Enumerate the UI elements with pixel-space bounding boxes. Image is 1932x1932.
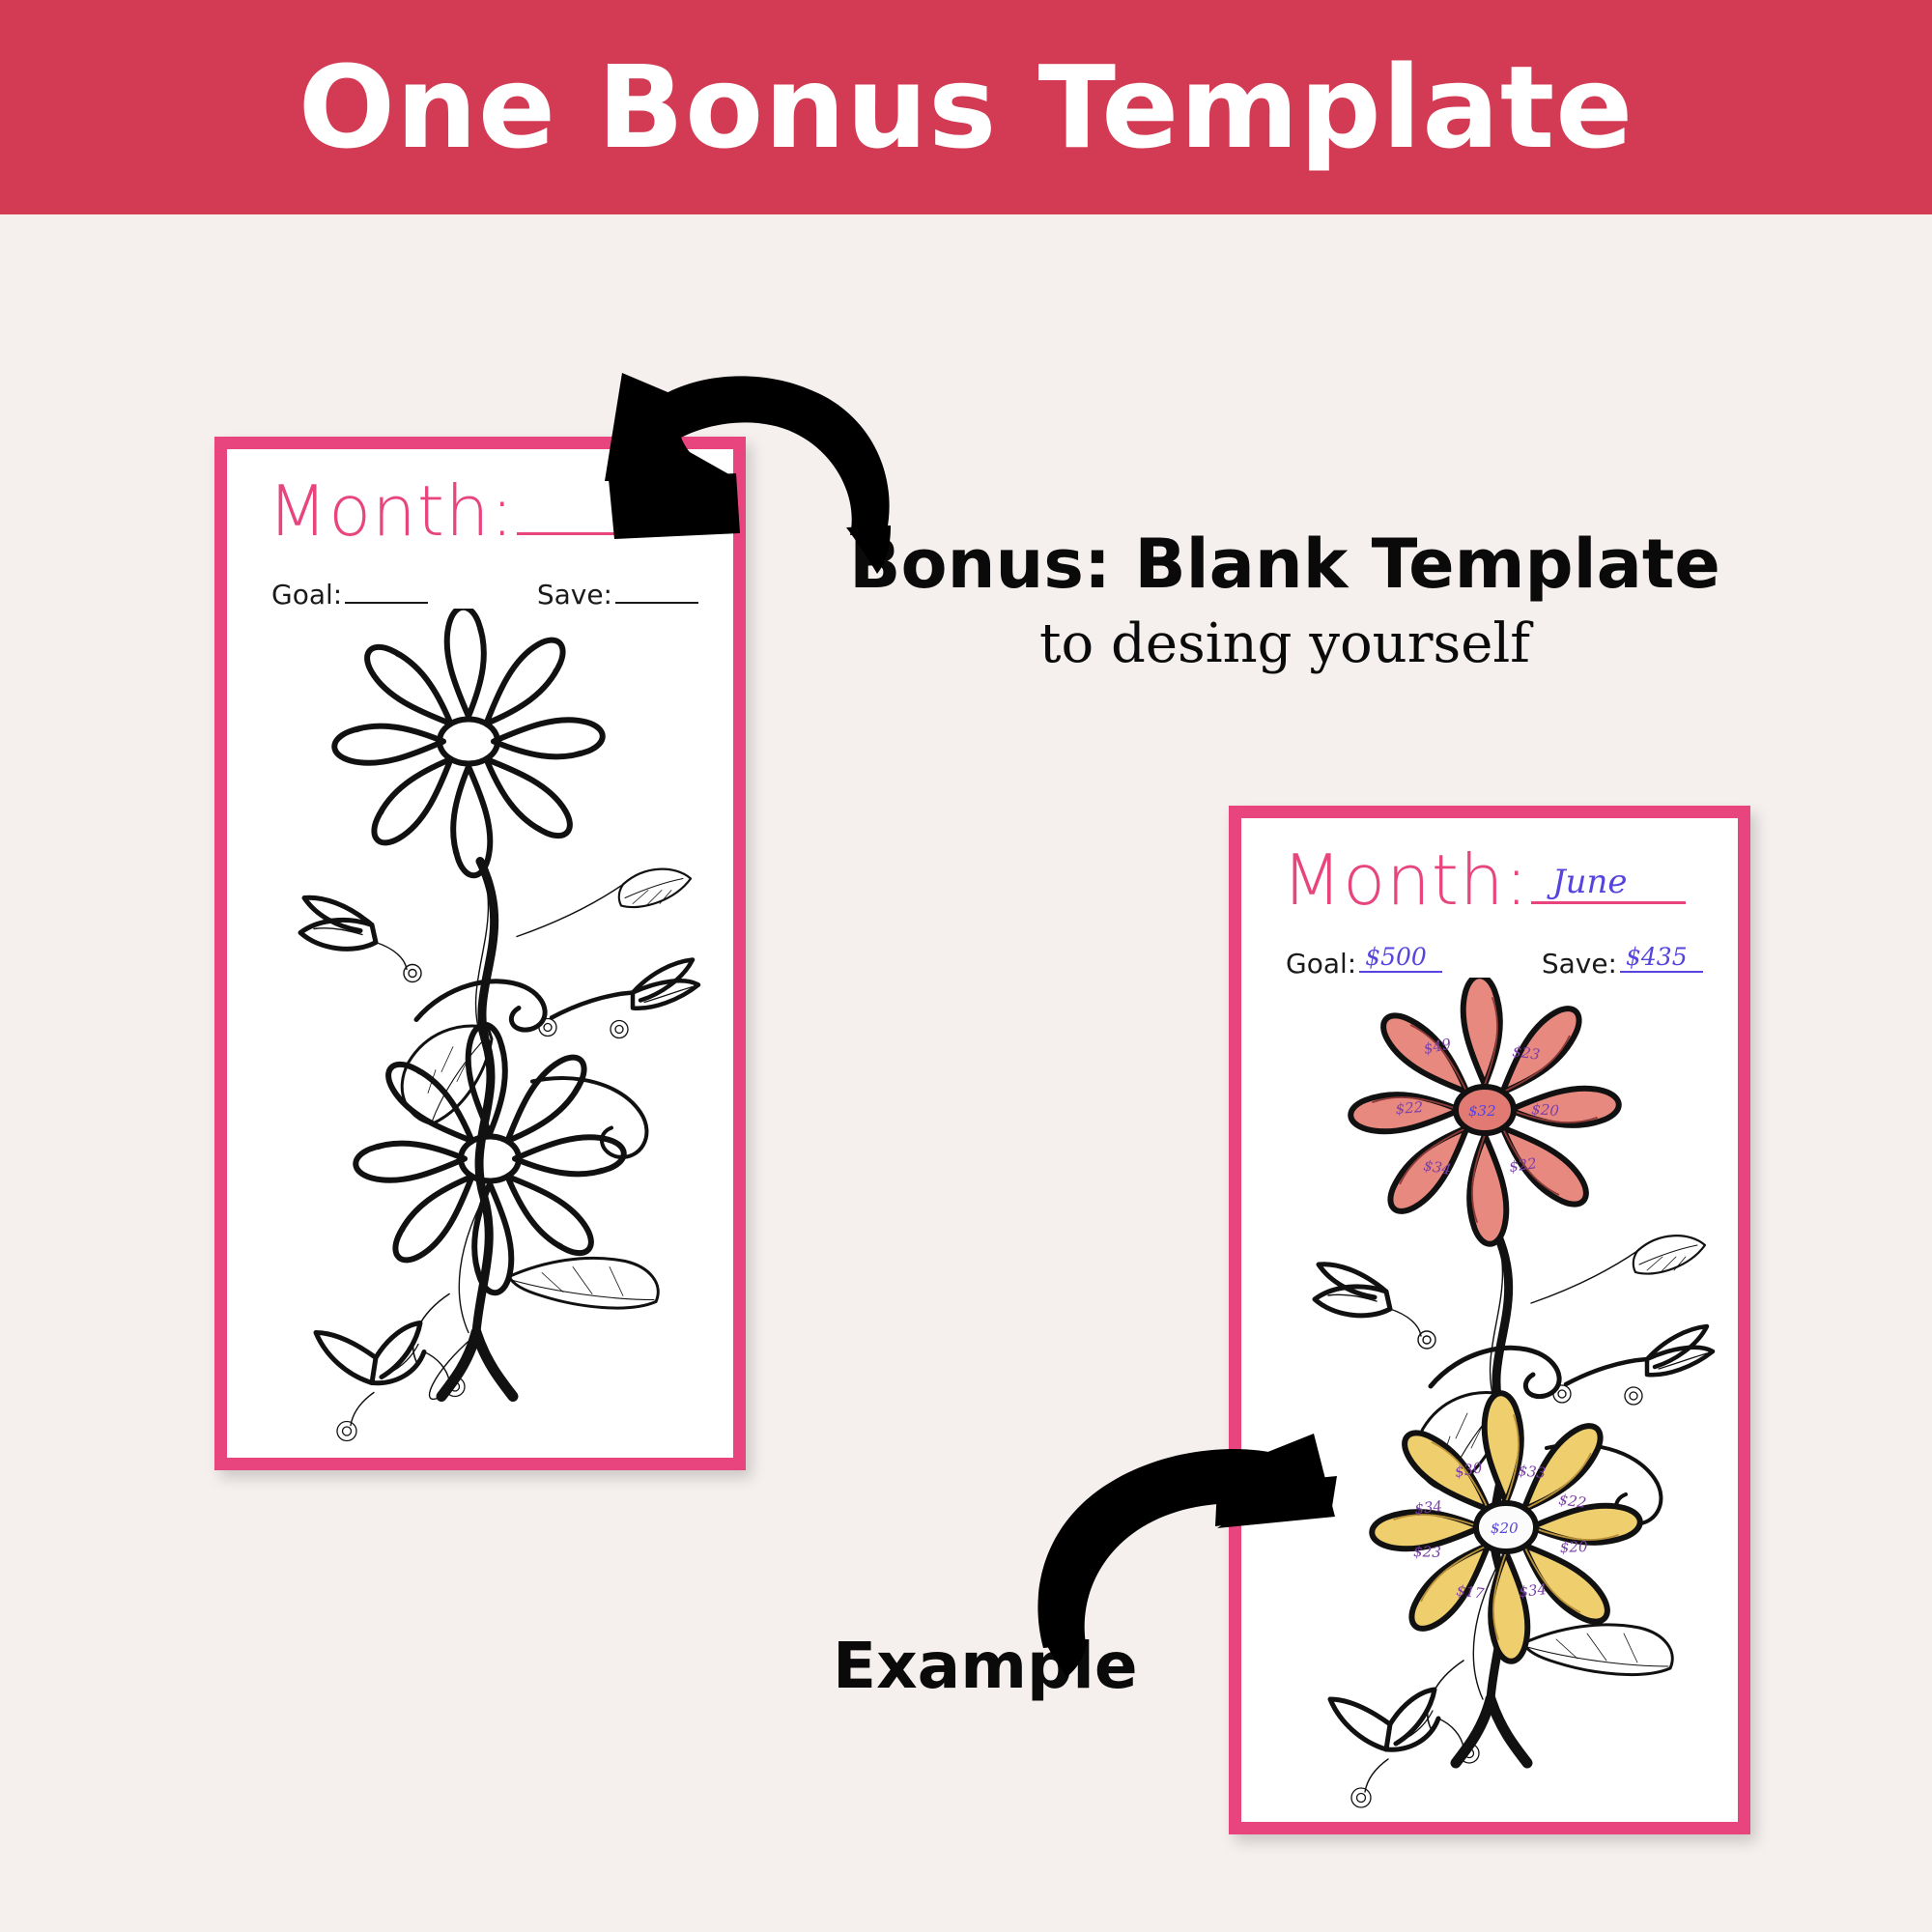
example-upper-flower-red: $49 $23 $22 $32 $20 $34 $22: [1350, 978, 1619, 1244]
example-goal-input[interactable]: $500: [1359, 946, 1442, 973]
yellow-petal-amount-3: $34: [1414, 1497, 1443, 1518]
example-month-input[interactable]: June: [1531, 851, 1686, 904]
example-lower-flower-yellow: $30 $33 $34 $22 $20 $23 $20 $17 $34: [1372, 1393, 1640, 1662]
blank-goal-label: Goal:: [271, 582, 342, 609]
example-save-input[interactable]: $435: [1620, 946, 1703, 973]
blank-flower-artwork: [227, 609, 733, 1458]
example-month-label: Month:: [1282, 845, 1529, 915]
example-flower-artwork: $49 $23 $22 $32 $20 $34 $22: [1241, 978, 1738, 1822]
example-save-value: $435: [1626, 945, 1688, 969]
example-goal-save-row: Goal: $500 Save: $435: [1286, 946, 1703, 978]
example-save-group: Save: $435: [1542, 946, 1703, 978]
example-goal-label: Goal:: [1286, 951, 1356, 978]
blank-goal-input[interactable]: [345, 577, 428, 604]
example-goal-group: Goal: $500: [1286, 946, 1442, 978]
arrow-to-example-icon: [1024, 1420, 1352, 1681]
red-petal-amount-3: $22: [1395, 1098, 1424, 1118]
yellow-petal-amount-5: $23: [1413, 1543, 1441, 1561]
yellow-petal-amount-8: $34: [1519, 1580, 1548, 1601]
yellow-petal-amount-6: $20: [1560, 1538, 1589, 1556]
example-month-value: June: [1552, 866, 1628, 898]
red-petal-amount-4: $20: [1531, 1100, 1560, 1120]
yellow-center-amount: $20: [1491, 1520, 1519, 1537]
yellow-petal-amount-4: $22: [1557, 1491, 1587, 1512]
red-center-amount: $32: [1468, 1102, 1496, 1120]
arrow-to-blank-template-icon: [580, 357, 947, 628]
example-month-row: Month: June: [1282, 845, 1686, 915]
example-save-label: Save:: [1542, 951, 1617, 978]
header-banner: One Bonus Template: [0, 0, 1932, 214]
example-goal-value: $500: [1365, 945, 1427, 969]
blank-month-label: Month:: [268, 476, 515, 546]
yellow-petal-amount-1: $30: [1454, 1459, 1485, 1481]
yellow-petal-amount-2: $33: [1518, 1462, 1547, 1482]
page-title: One Bonus Template: [298, 50, 1634, 164]
blank-goal-group: Goal:: [271, 577, 428, 609]
